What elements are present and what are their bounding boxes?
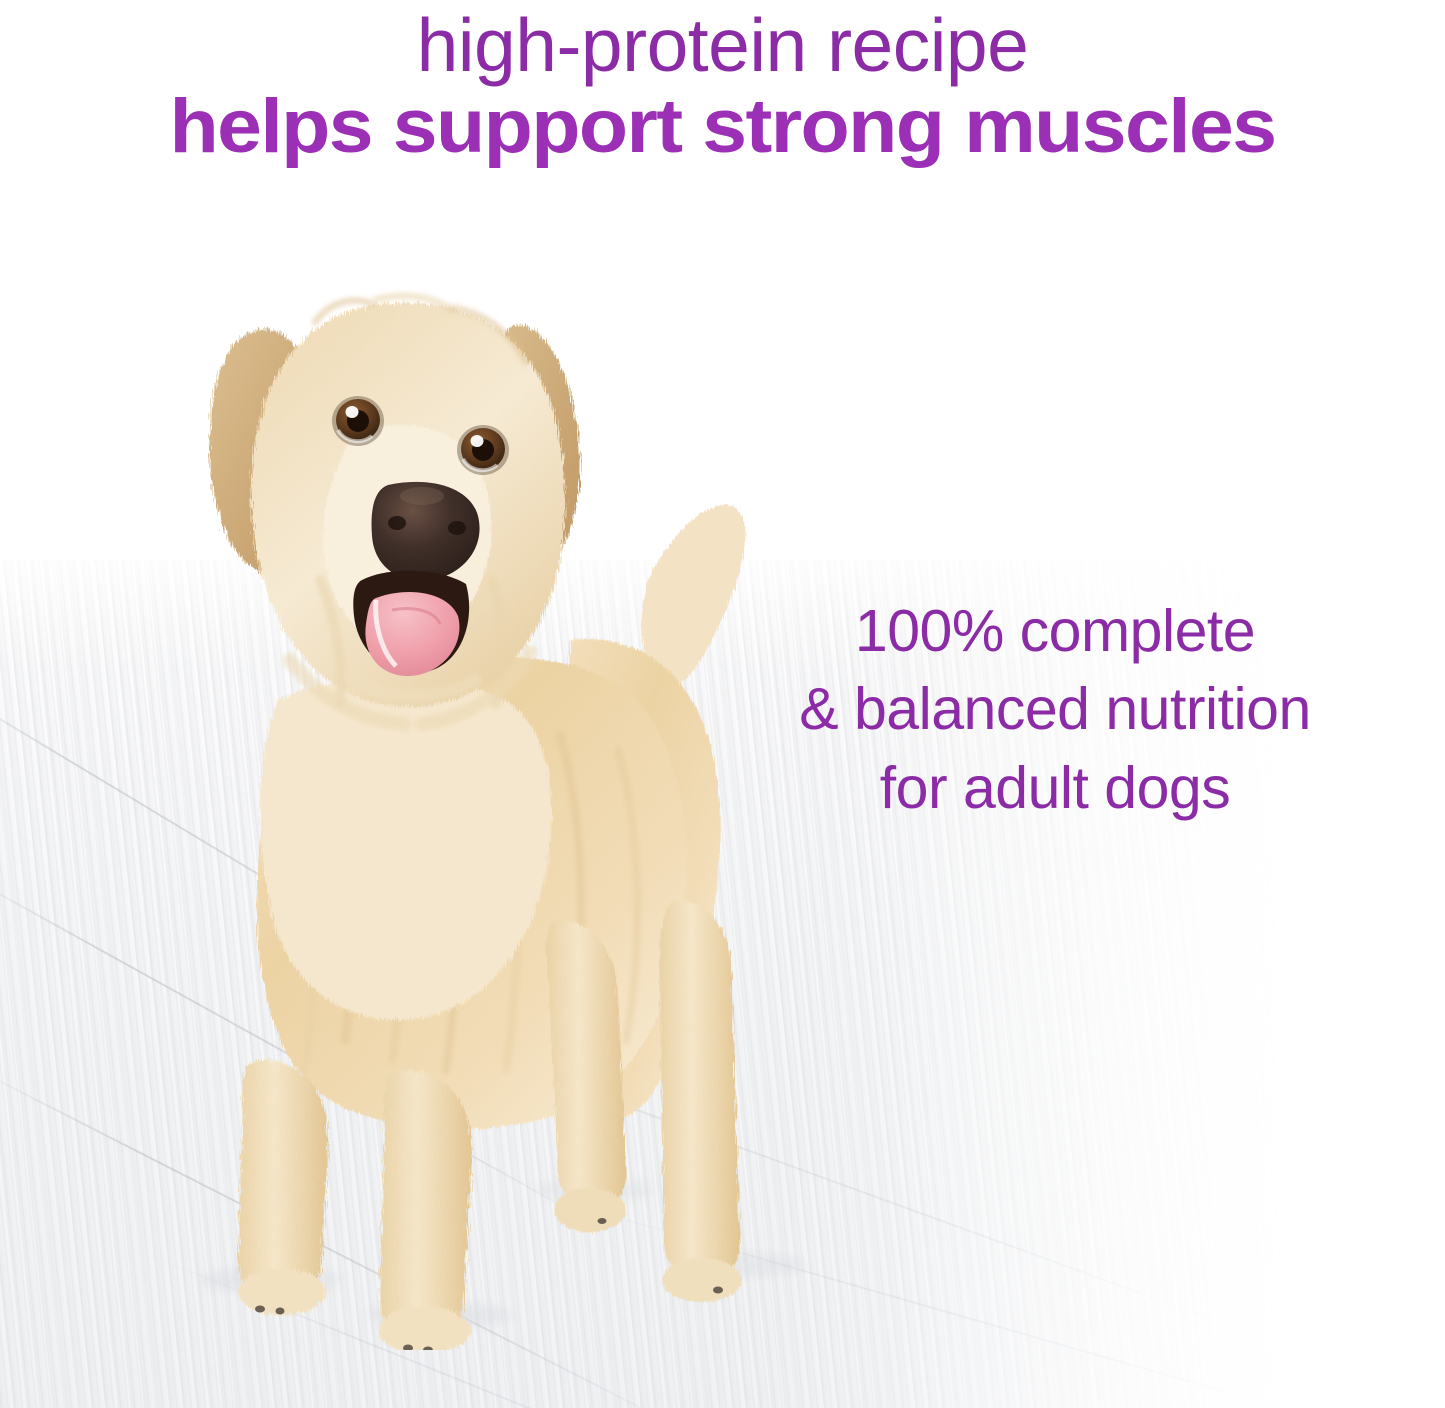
marketing-image-canvas: high-protein recipe helps support strong…: [0, 0, 1445, 1408]
side-copy-line-3: for adult dogs: [705, 749, 1405, 827]
headline-line-2: helps support strong muscles: [0, 89, 1445, 165]
headline-line-1: high-protein recipe: [0, 0, 1445, 83]
side-copy-block: 100% complete & balanced nutrition for a…: [705, 592, 1405, 827]
side-copy-line-1: 100% complete: [705, 592, 1405, 670]
side-copy-line-2: & balanced nutrition: [705, 670, 1405, 748]
headline-block: high-protein recipe helps support strong…: [0, 0, 1445, 165]
